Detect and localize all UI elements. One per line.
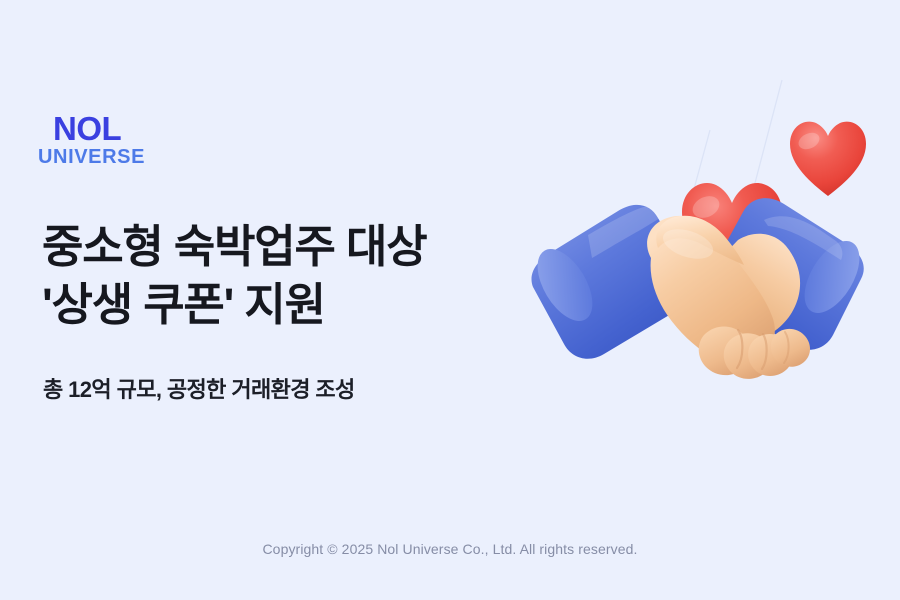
heart-small-icon <box>790 122 866 196</box>
brand-logo: NOL UNIVERSE <box>38 112 268 168</box>
handshake-with-hearts-icon <box>492 72 892 432</box>
logo-secondary-text: UNIVERSE <box>38 146 268 168</box>
page-title: 중소형 숙박업주 대상 '상생 쿠폰' 지원 <box>42 218 562 334</box>
page-subtitle: 총 12억 규모, 공정한 거래환경 조성 <box>43 374 355 406</box>
headline-line-2: '상생 쿠폰' 지원 <box>42 276 562 334</box>
logo-primary-text: NOL <box>38 112 268 146</box>
headline-line-1: 중소형 숙박업주 대상 <box>42 218 562 276</box>
promo-banner: NOL UNIVERSE 중소형 숙박업주 대상 '상생 쿠폰' 지원 총 12… <box>0 0 900 600</box>
copyright-text: Copyright © 2025 Nol Universe Co., Ltd. … <box>0 538 900 560</box>
